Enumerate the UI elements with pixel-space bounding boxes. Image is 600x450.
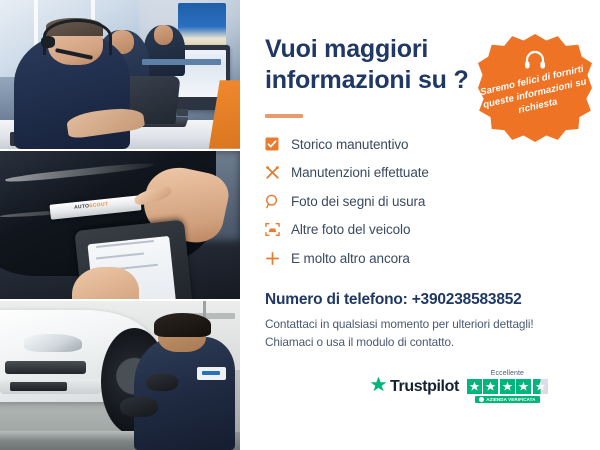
- background-colleague-head: [154, 25, 173, 44]
- verified-badge-label: AZIENDA VERIFICATA: [486, 397, 535, 402]
- star-rating: [467, 379, 548, 394]
- feature-item-label: E molto altro ancora: [291, 251, 410, 266]
- trustpilot-widget[interactable]: Trustpilot Eccellente: [370, 370, 548, 403]
- star-half-icon: [533, 379, 548, 394]
- headset-earcup-icon: [41, 36, 55, 48]
- monitor-toolbar: [142, 59, 221, 65]
- photo-car-inspection: AUTOSCOUT: [0, 149, 240, 300]
- trustpilot-rating: Eccellente: [467, 370, 548, 403]
- mechanic-body: [134, 337, 235, 450]
- star-icon: [500, 379, 515, 394]
- checkbox-checked-icon: [265, 137, 291, 151]
- contact-subtext-line-1: Contattaci in qualsiasi momento per ulte…: [265, 317, 534, 331]
- photo-column: AUTOSCOUT: [0, 0, 240, 450]
- trustpilot-name: Trustpilot: [390, 378, 459, 396]
- magnifier-icon: [265, 194, 291, 209]
- feature-item-label: Manutenzioni effettuate: [291, 165, 429, 180]
- feature-item-foto-segni-usura: Foto dei segni di usura: [265, 187, 495, 216]
- feature-item-molto-altro: E molto altro ancora: [265, 244, 495, 273]
- trustpilot-logo[interactable]: Trustpilot: [370, 376, 459, 398]
- tools-cross-icon: [265, 165, 291, 180]
- page-title-line-1: Vuoi maggiori: [265, 34, 480, 65]
- feature-list: Storico manutentivo Manutenzioni effettu…: [265, 130, 495, 273]
- car-air-vent: [10, 382, 68, 391]
- page-title: Vuoi maggiori informazioni su ?: [265, 34, 480, 95]
- star-icon: [467, 379, 482, 394]
- page-title-line-2: informazioni su ?: [265, 65, 480, 96]
- callout-badge: Saremo felici di fornirti queste informa…: [478, 34, 592, 142]
- feature-item-altre-foto-veicolo: Altre foto del veicolo: [265, 216, 495, 245]
- content-panel: Vuoi maggiori informazioni su ? Saremo f…: [240, 0, 600, 450]
- feature-item-manutenzioni-effettuate: Manutenzioni effettuate: [265, 159, 495, 188]
- contact-subtext-line-2: Chiamaci o usa il modulo di contatto.: [265, 335, 454, 349]
- star-icon: [516, 379, 531, 394]
- mechanic-glove: [146, 374, 177, 390]
- feature-item-label: Storico manutentivo: [291, 137, 408, 152]
- vehicle-lift-arm: [0, 431, 134, 441]
- mechanic-glove: [120, 397, 158, 418]
- plus-icon: [265, 251, 291, 266]
- star-icon: [370, 376, 387, 398]
- car-grille: [5, 361, 87, 374]
- car-scan-icon: [265, 222, 291, 237]
- uniform-logo-patch: [197, 367, 226, 380]
- title-divider: [265, 114, 303, 118]
- promo-banner: AUTOSCOUT: [0, 0, 600, 450]
- photo-call-center-agent: [0, 0, 240, 149]
- feature-item-storico-manutentivo: Storico manutentivo: [265, 130, 495, 159]
- rating-label: Eccellente: [491, 370, 524, 377]
- photo-mechanic-service: [0, 299, 240, 450]
- feature-item-label: Altre foto del veicolo: [291, 222, 410, 237]
- star-icon: [483, 379, 498, 394]
- car-headlight: [24, 334, 82, 352]
- mechanic-hair: [154, 313, 212, 337]
- feature-item-label: Foto dei segni di usura: [291, 194, 425, 209]
- verified-business-badge: AZIENDA VERIFICATA: [475, 396, 539, 403]
- verified-check-icon: [479, 397, 484, 402]
- phone-number-line: Numero di telefono: +390238583852: [265, 291, 522, 309]
